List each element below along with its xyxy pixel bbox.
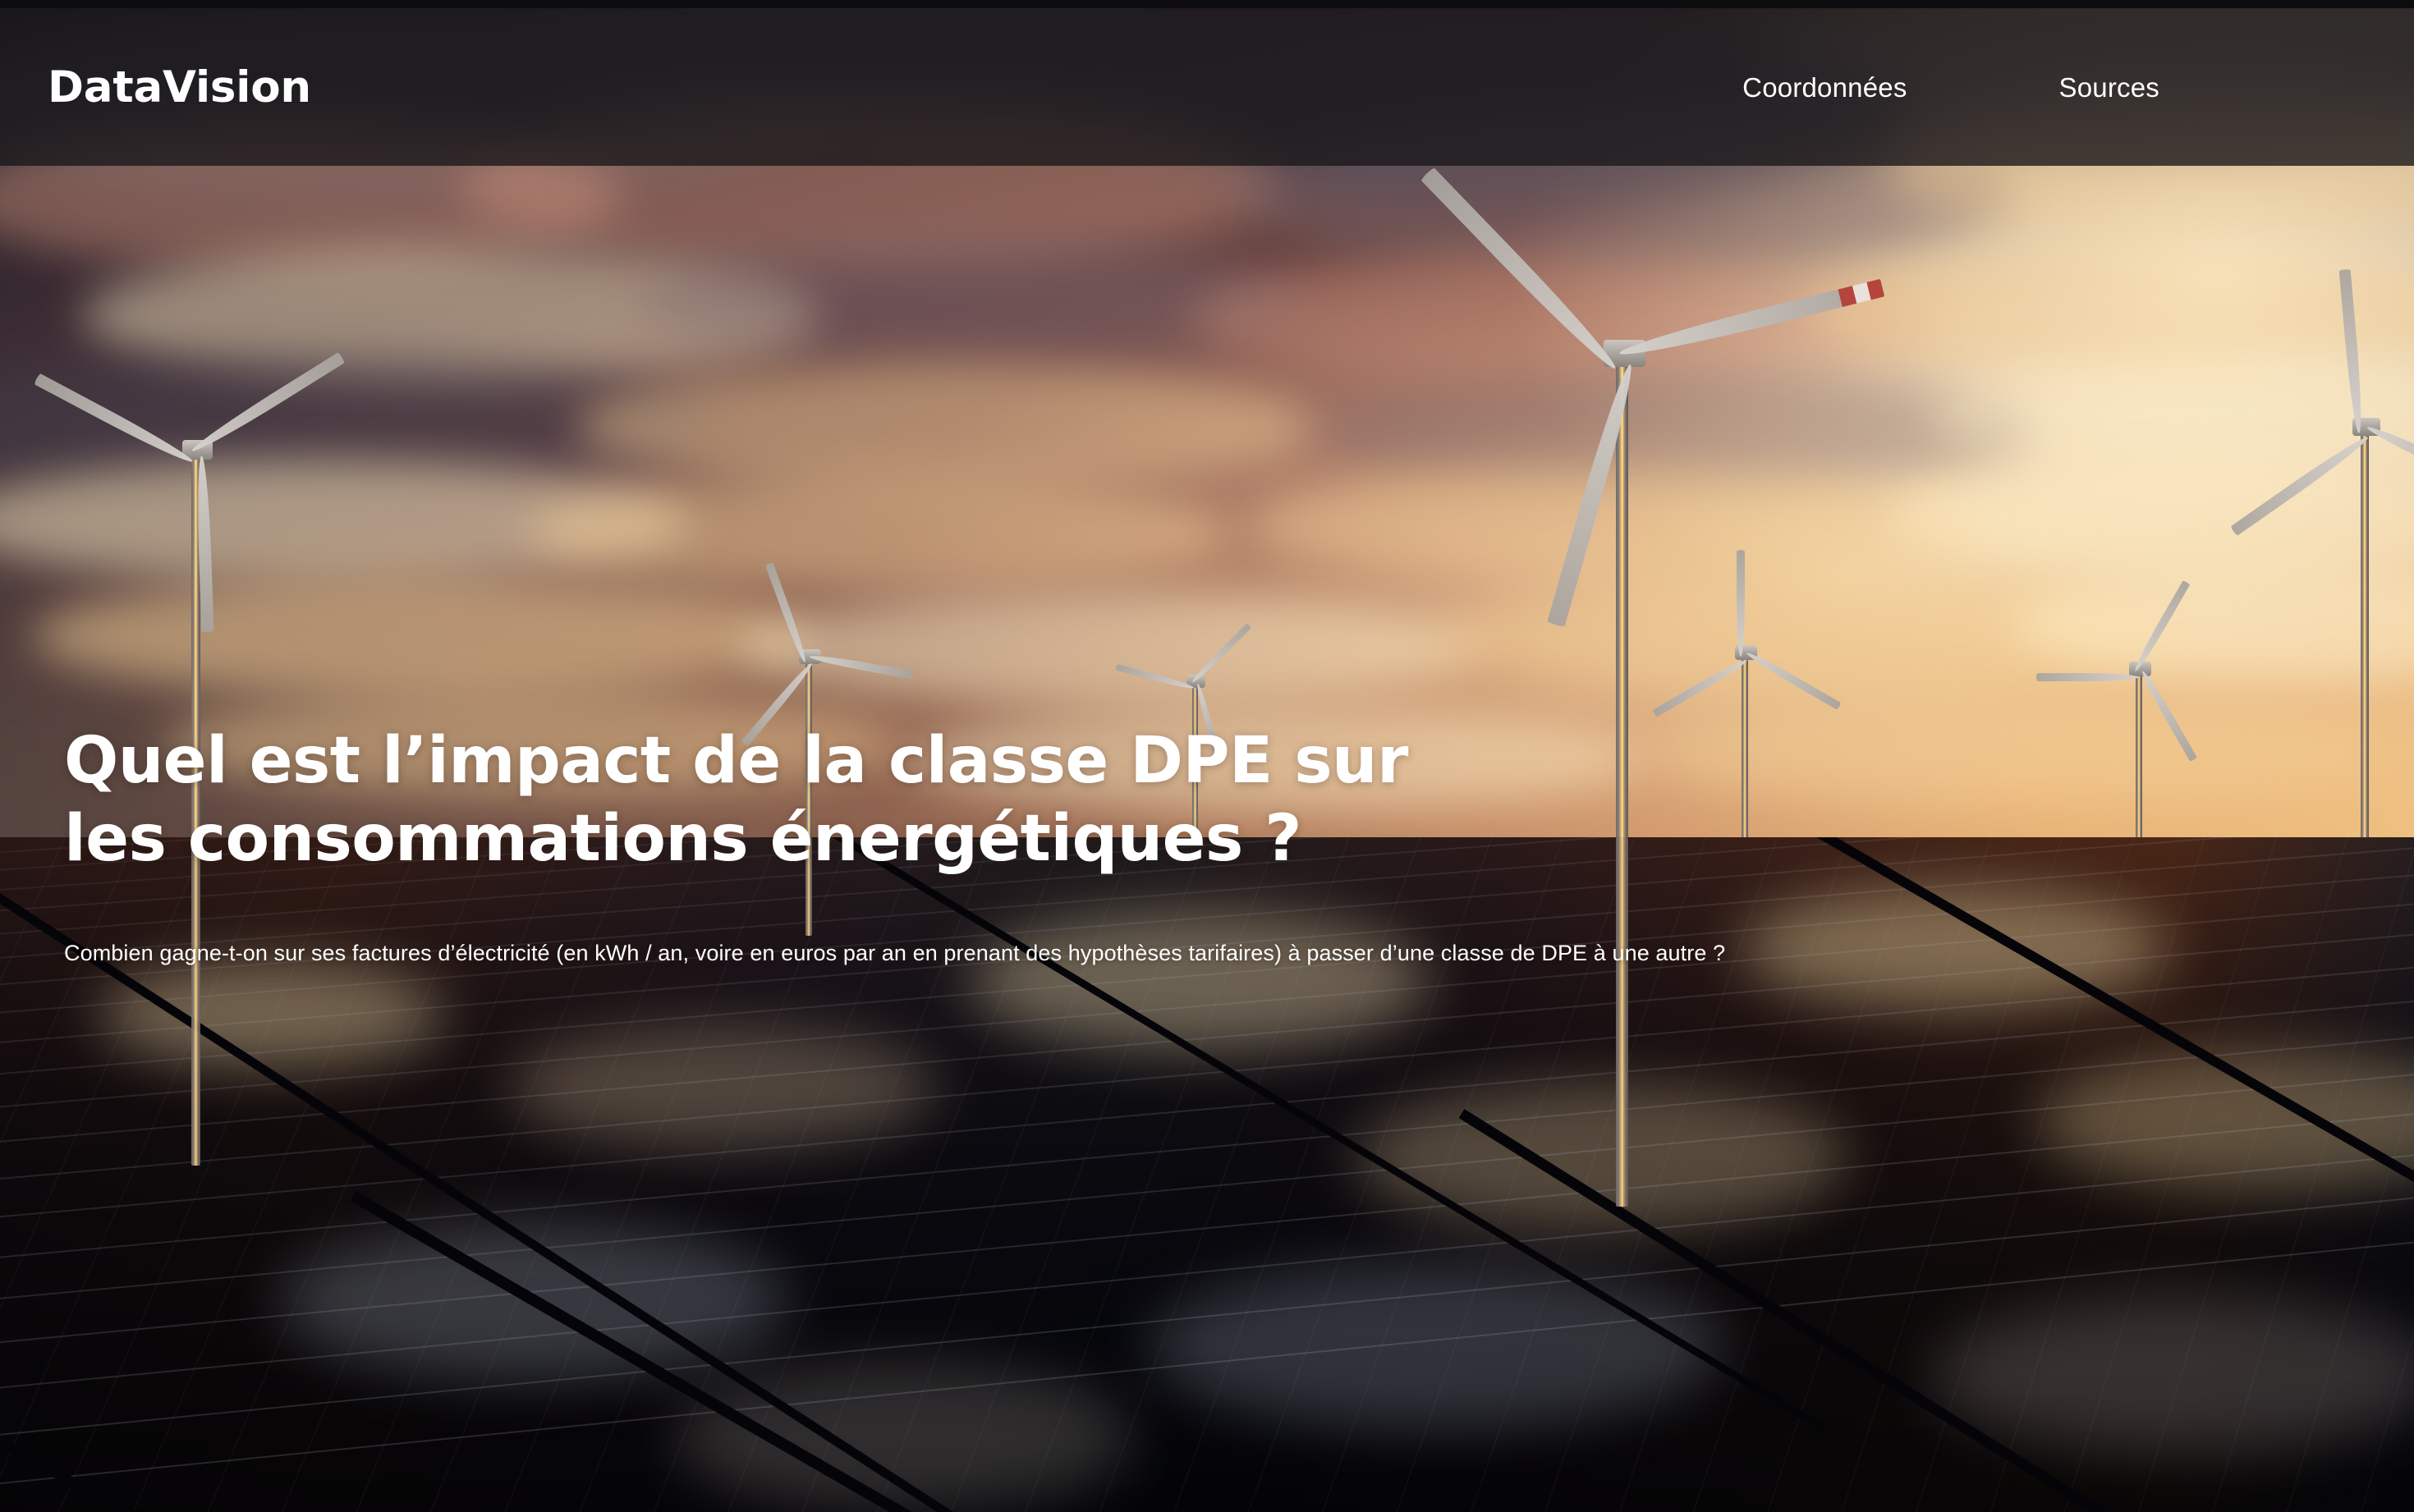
nav-link-coordonnees[interactable]: Coordonnées [1742, 74, 1907, 101]
cloud [739, 591, 1478, 706]
page-title: Quel est l’impact de la classe DPE sur l… [64, 722, 1460, 878]
turbine-mast [2361, 427, 2369, 854]
page-title-line-1: Quel est l’impact de la classe DPE sur [64, 724, 1408, 798]
site-header: DataVision Coordonnées Sources [0, 8, 2414, 166]
page-root: DataVision Coordonnées Sources Quel est … [0, 0, 2414, 1512]
main-navigation: Coordonnées Sources [1742, 74, 2414, 101]
cloud [640, 238, 1297, 361]
panel-reflection [1930, 1297, 2414, 1453]
hero-section: Quel est l’impact de la classe DPE sur l… [64, 722, 2281, 969]
nav-link-sources[interactable]: Sources [2059, 74, 2159, 101]
cloud [575, 361, 1314, 493]
page-title-line-2: les consommations énergétiques ? [64, 802, 1301, 876]
brand-logo[interactable]: DataVision [48, 66, 311, 109]
panel-reflection [1150, 1264, 1724, 1428]
top-strip [0, 0, 2414, 8]
cloud [525, 476, 1232, 591]
cloud [33, 575, 813, 698]
page-subtitle: Combien gagne-t-on sur ses factures d’él… [64, 937, 2281, 969]
